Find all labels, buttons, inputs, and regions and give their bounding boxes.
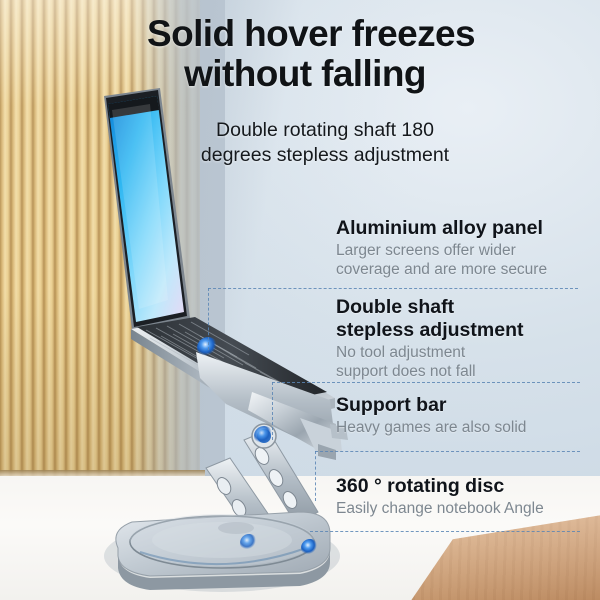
guide-line-disc-horizontal — [310, 531, 580, 532]
callout-subtitle: Easily change notebook Angle — [336, 500, 544, 519]
guide-line-panel-horizontal — [208, 288, 578, 289]
callout-aluminium-alloy-panel: Aluminium alloy panel Larger screens off… — [336, 217, 547, 280]
callout-title: 360 ° rotating disc — [336, 475, 544, 498]
callout-support-bar: Support bar Heavy games are also solid — [336, 394, 526, 438]
callout-title: Aluminium alloy panel — [336, 217, 547, 240]
callout-rotating-disc: 360 ° rotating disc Easily change notebo… — [336, 475, 544, 519]
guide-line-shaft-vertical — [272, 382, 273, 440]
glow-marker-arm — [240, 534, 258, 552]
callout-double-shaft-stepless-adjustment: Double shaft stepless adjustment No tool… — [336, 296, 523, 382]
page-headline: Solid hover freezes without falling — [0, 14, 600, 94]
guide-line-support-horizontal — [315, 451, 580, 452]
callout-subtitle-line-1: No tool adjustment — [336, 344, 465, 361]
callout-subtitle: Heavy games are also solid — [336, 419, 526, 438]
callout-subtitle-line-2: coverage and are more secure — [336, 261, 547, 278]
guide-line-panel-vertical — [208, 288, 209, 350]
callout-title-line-1: Double shaft — [336, 296, 454, 318]
glow-marker-hinge — [254, 426, 274, 446]
callout-title: Double shaft stepless adjustment — [336, 296, 523, 342]
subheadline-line-1: Double rotating shaft 180 — [216, 119, 434, 141]
guide-line-shaft-horizontal — [272, 382, 580, 383]
glow-marker-disc — [301, 539, 319, 557]
callout-subtitle-line-1: Larger screens offer wider — [336, 242, 516, 259]
callout-subtitle: Larger screens offer wider coverage and … — [336, 242, 547, 280]
headline-line-2: without falling — [0, 54, 600, 94]
callout-title: Support bar — [336, 394, 526, 417]
product-marketing-image: Solid hover freezes without falling Doub… — [0, 0, 600, 600]
callout-subtitle: No tool adjustment support does not fall — [336, 344, 523, 382]
page-subheadline: Double rotating shaft 180 degrees steple… — [110, 118, 540, 169]
callout-subtitle-line-2: support does not fall — [336, 363, 476, 380]
headline-line-1: Solid hover freezes — [0, 14, 600, 54]
callout-title-line-2: stepless adjustment — [336, 319, 523, 341]
guide-line-support-vertical — [315, 451, 316, 501]
subheadline-line-2: degrees stepless adjustment — [201, 144, 449, 166]
